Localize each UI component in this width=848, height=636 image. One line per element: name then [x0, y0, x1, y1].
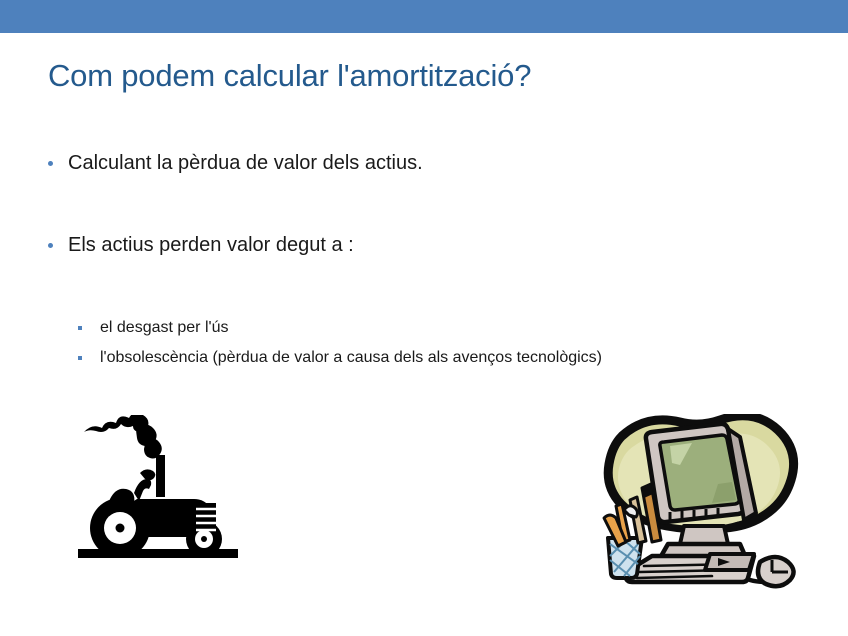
- tractor-icon: [74, 415, 244, 565]
- sub-bullet-dot-icon: [78, 326, 82, 330]
- slide-title: Com podem calcular l'amortització?: [48, 56, 808, 96]
- bullet-item: Els actius perden valor degut a :: [44, 232, 824, 258]
- bullet-item-label: Els actius perden valor degut a :: [68, 234, 354, 256]
- sub-bullet-dot-icon: [78, 356, 82, 360]
- accent-top-bar: [0, 0, 848, 33]
- bullet-list: Calculant la pèrdua de valor dels actius…: [44, 150, 824, 258]
- desktop-computer-icon: [592, 414, 807, 596]
- tractor-clipart-image: [74, 415, 244, 565]
- sub-bullet-item: el desgast per l'ús: [74, 317, 834, 339]
- bullet-dot-icon: [48, 161, 53, 166]
- sub-bullet-item-label: l'obsolescència (pèrdua de valor a causa…: [100, 349, 602, 366]
- slide-canvas: Com podem calcular l'amortització? Calcu…: [0, 0, 848, 636]
- bullet-item: Calculant la pèrdua de valor dels actius…: [44, 150, 824, 176]
- bullet-item-label: Calculant la pèrdua de valor dels actius…: [68, 152, 423, 174]
- bullet-dot-icon: [48, 243, 53, 248]
- sub-bullet-item: l'obsolescència (pèrdua de valor a causa…: [74, 347, 834, 369]
- computer-clipart-image: [592, 414, 807, 596]
- sub-bullet-item-label: el desgast per l'ús: [100, 319, 228, 336]
- sub-bullet-list: el desgast per l'ús l'obsolescència (pèr…: [74, 317, 834, 369]
